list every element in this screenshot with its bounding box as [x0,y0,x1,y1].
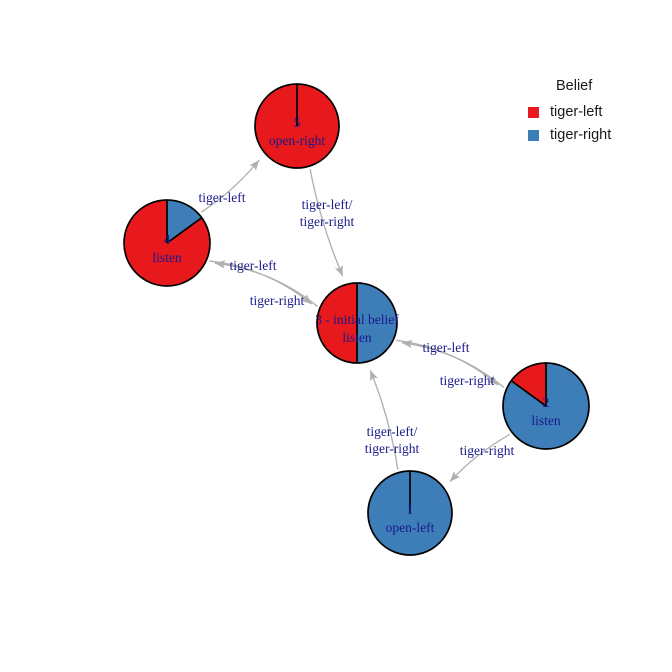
legend-item-tiger-right[interactable]: tiger-right [528,127,668,143]
node-3[interactable]: 3 - initial belieflisten [315,283,399,363]
edge-label-2-to-3: tiger-left [423,340,470,355]
edge-label-4-to-5: tiger-left [199,190,246,205]
legend-label-tiger-left: tiger-left [550,104,602,120]
legend-label-tiger-right: tiger-right [550,127,611,143]
legend-item-tiger-left[interactable]: tiger-left [528,104,668,120]
legend-swatch-tiger-left [528,107,539,118]
node-5-id-label: 5 [294,115,301,130]
node-5-action-label: open-right [269,133,325,148]
node-4-action-label: listen [152,250,181,265]
edge-label-3-to-4: tiger-left [230,258,277,273]
legend: Belief tiger-left tiger-right [528,78,668,150]
node-4[interactable]: 4listen [124,200,210,286]
nodes-layer: 5open-right4listen3 - initial belieflist… [124,84,589,555]
node-1-id-label: 1 [407,502,414,517]
node-3-id-label: 3 - initial belief [315,312,399,327]
edge-label-3-to-2: tiger-right [440,373,495,388]
edge-label-4-to-3: tiger-right [250,293,305,308]
node-4-id-label: 4 [164,232,171,247]
node-1[interactable]: 1open-left [368,471,452,555]
node-1-action-label: open-left [386,520,435,535]
node-2[interactable]: 2listen [503,363,589,449]
edge-label-5-to-3: tiger-left/tiger-right [300,197,355,229]
node-2-action-label: listen [531,413,560,428]
edge-label-2-to-1: tiger-right [460,443,515,458]
node-3-action-label: listen [342,330,371,345]
legend-swatch-tiger-right [528,130,539,141]
node-5[interactable]: 5open-right [255,84,339,168]
node-2-id-label: 2 [543,395,550,410]
belief-graph-canvas: 5open-right4listen3 - initial belieflist… [0,0,672,672]
legend-title: Belief [556,78,668,94]
